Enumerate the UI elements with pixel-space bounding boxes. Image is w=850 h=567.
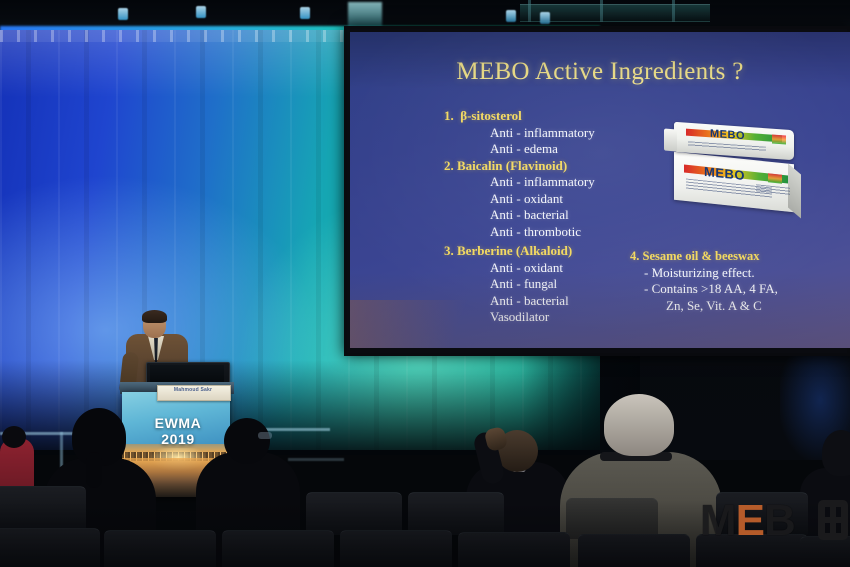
chair — [306, 492, 402, 535]
podium-banner-label: EWMA 2019 — [140, 415, 216, 447]
stage-light-box — [348, 2, 382, 28]
watermark-letter-o-icon — [818, 500, 848, 540]
slide-title: MEBO Active Ingredients ? — [350, 58, 850, 86]
slide-item-4-title: Sesame oil & beeswax — [643, 249, 760, 263]
chair — [458, 532, 570, 567]
slide-item-1-heading: 1. β-sitosterol — [444, 108, 674, 125]
audience-member-red-head — [2, 426, 26, 448]
truss-leg — [528, 0, 531, 22]
slide-item-1-sub-2: Anti - edema — [444, 141, 674, 158]
product-tube-brand: MEBO — [710, 128, 745, 142]
slide-item-2-heading: 2. Baicalin (Flavinoid) — [444, 158, 674, 175]
chair — [222, 530, 334, 567]
slide-item-4-sub-3: Zn, Se, Vit. A & C — [630, 298, 845, 315]
spot-lamp — [300, 7, 310, 19]
conference-photo: MEBO Active Ingredients ? 1. β-sitostero… — [0, 0, 850, 567]
truss-leg — [600, 0, 603, 22]
product-tube-swatch — [772, 135, 786, 145]
slide-item-2-title: Baicalin (Flavinoid) — [457, 158, 567, 173]
audience-member-5-head — [822, 430, 850, 476]
chair — [340, 530, 452, 567]
spot-lamp — [506, 10, 516, 22]
chair — [0, 486, 86, 531]
watermark-letter-b: B — [764, 498, 795, 544]
slide-item-2-sub-3: Anti - bacterial — [444, 207, 674, 224]
chair — [566, 498, 658, 539]
watermark-letter-e: E — [736, 498, 764, 544]
slide-item-4-sub-1: - Moisturizing effect. — [630, 265, 845, 282]
slide-item-2-number: 2. — [444, 158, 454, 173]
product-photo: MEBO MEBO — [660, 120, 808, 220]
slide-item-3-title: Berberine (Alkaloid) — [457, 243, 572, 258]
audience-member-2-glasses — [258, 432, 272, 439]
slide-item-4-number: 4. — [630, 249, 639, 263]
slide-item-1-title: β-sitosterol — [460, 108, 521, 123]
chair — [0, 528, 100, 567]
slide-item-2-sub-1: Anti - inflammatory — [444, 174, 674, 191]
chair — [104, 530, 216, 567]
product-tube-cap — [664, 129, 677, 152]
audience-member-2-head — [224, 418, 270, 464]
spot-lamp — [196, 6, 206, 18]
spot-lamp — [540, 12, 550, 24]
chair — [408, 492, 504, 535]
speaker-hair — [142, 310, 167, 323]
slide-item-4-heading: 4. Sesame oil & beeswax — [630, 248, 845, 265]
slide-item-1-number: 1. — [444, 108, 454, 123]
stage-railing — [288, 458, 344, 461]
spot-lamp — [118, 8, 128, 20]
speaker-name-text: Mahmoud Sakr — [157, 387, 229, 393]
audience-member-1-ponytail — [86, 452, 102, 488]
product-box-swatch — [768, 173, 782, 183]
slide-item-3-number: 3. — [444, 243, 454, 258]
slide-item-4-sub-2: - Contains >18 AA, 4 FA, — [630, 281, 845, 298]
slide-item-2-sub-4: Anti - thrombotic — [444, 224, 674, 241]
watermark-letter-m: M — [700, 498, 736, 544]
slide-column-right: 4. Sesame oil & beeswax - Moisturizing e… — [630, 248, 845, 314]
truss-leg — [672, 0, 675, 22]
stage-railing — [258, 428, 330, 431]
audience-member-4-head — [604, 394, 674, 456]
slide-item-2-sub-2: Anti - oxidant — [444, 191, 674, 208]
slide-item-1-sub-1: Anti - inflammatory — [444, 125, 674, 142]
chair — [578, 534, 690, 567]
